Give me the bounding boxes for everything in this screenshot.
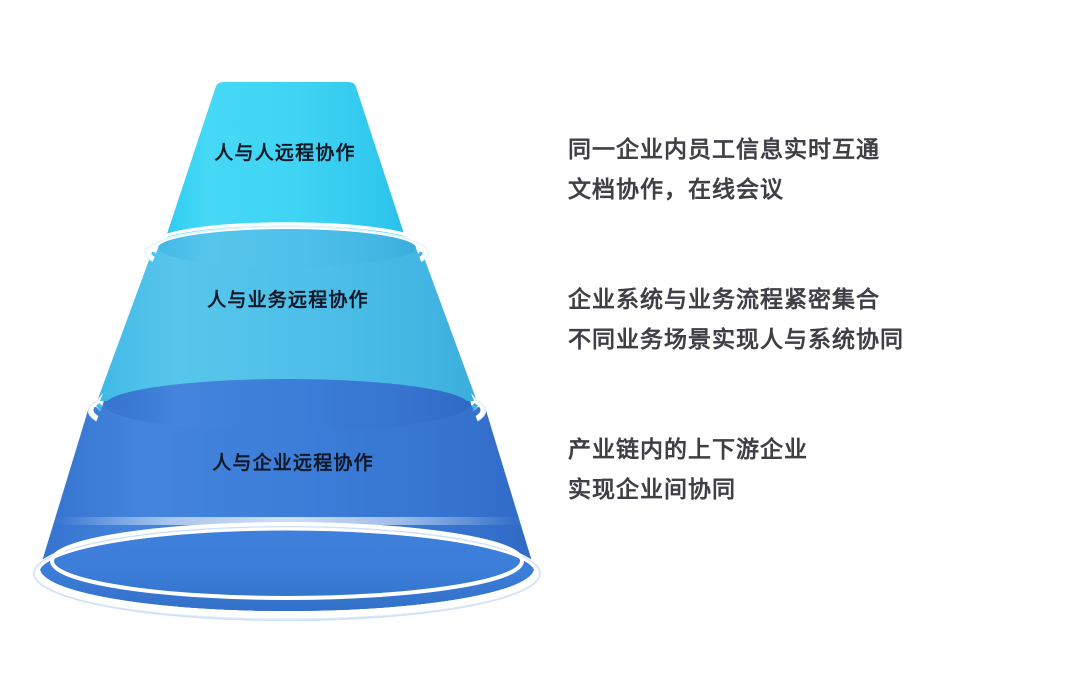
description-line: 实现企业间协同	[568, 470, 808, 510]
description-block-tier-1: 同一企业内员工信息实时互通 文档协作，在线会议	[568, 130, 880, 210]
description-block-tier-2: 企业系统与业务流程紧密集合 不同业务场景实现人与系统协同	[568, 280, 904, 360]
description-line: 文档协作，在线会议	[568, 170, 880, 210]
description-line: 产业链内的上下游企业	[568, 430, 808, 470]
tier-2-body-front	[100, 248, 474, 401]
cone-tier-1-label: 人与人远程协作	[205, 138, 365, 165]
cone-tier-3-label: 人与企业远程协作	[190, 448, 396, 475]
cone-funnel-graphic	[0, 0, 1080, 687]
cone-tier-2-label: 人与业务远程协作	[188, 285, 388, 312]
tier-2-mouth-fill	[158, 229, 416, 267]
tier-3-sheen-top	[58, 517, 518, 525]
description-block-tier-3: 产业链内的上下游企业 实现企业间协同	[568, 430, 808, 510]
cone-tier-3-top	[34, 379, 540, 621]
description-line: 不同业务场景实现人与系统协同	[568, 320, 904, 360]
tier-3-mouth-top	[105, 379, 469, 431]
description-line: 同一企业内员工信息实时互通	[568, 130, 880, 170]
diagram-canvas: 人与人远程协作 人与业务远程协作 人与企业远程协作 同一企业内员工信息实时互通 …	[0, 0, 1080, 687]
cone-tier-2-foreground	[100, 229, 474, 401]
description-line: 企业系统与业务流程紧密集合	[568, 280, 904, 320]
